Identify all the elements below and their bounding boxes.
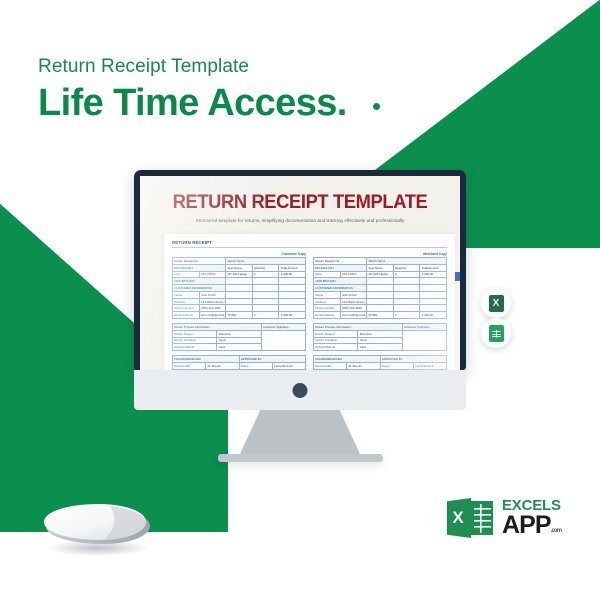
- copy-tag: Customer Copy: [172, 252, 306, 256]
- item-amount-empty: [420, 278, 447, 285]
- items-header: Return Items: [367, 258, 447, 265]
- receipt-copy-customer: Customer Copy Return Receipt No. Return …: [172, 252, 306, 370]
- customer-value: john.smith@email.com: [199, 312, 226, 319]
- process-value: Card: [358, 344, 402, 351]
- customer-value: John Smith: [340, 291, 367, 298]
- spacer-cell: [393, 291, 420, 298]
- issued-value: M. Brooks: [206, 362, 239, 369]
- excel-format-badge[interactable]: X: [481, 288, 511, 318]
- document-subtitle: Structured template for returns, simplif…: [154, 218, 446, 223]
- spacer-cell: [420, 298, 447, 305]
- green-dot-accent: [373, 103, 380, 110]
- monitor-bezel: RETURN RECEIPT TEMPLATE Structured templ…: [134, 170, 466, 370]
- order-number: ORD-88471234: [173, 278, 226, 285]
- item-qty: 1: [252, 271, 279, 278]
- process-header: Return Process Information: [173, 324, 262, 331]
- customer-label: Address: [314, 298, 341, 305]
- monitor-screen: RETURN RECEIPT TEMPLATE Structured templ…: [140, 176, 460, 370]
- receipt-header-table: Return Receipt No. Return Items RR-2024-…: [313, 257, 447, 319]
- col-item-name: Item Name: [226, 264, 253, 271]
- col-item-name: Item Name: [367, 264, 394, 271]
- issued-label: Received By: [314, 362, 347, 369]
- computer-mouse: [38, 498, 156, 556]
- spacer-cell: [226, 291, 253, 298]
- signature-header: Customer Signature: [261, 324, 305, 331]
- total-label: TOTAL: [226, 312, 253, 319]
- item-amount: 1,200.00: [279, 271, 306, 278]
- item-name: VC-120 Laptop: [226, 271, 253, 278]
- issued-approved-table: ISSUED/RECEIVED APPROVED BY Received By …: [313, 355, 447, 370]
- info-header: Return Receipt No.: [314, 258, 367, 265]
- process-signature-table: Return Process Information Customer Sign…: [172, 323, 306, 351]
- issued-value: M. Brooks: [347, 362, 380, 369]
- receipt-header-table: Return Receipt No. Return Items RR-2024-…: [172, 257, 306, 319]
- receipt-number: RR-2024-0117: [173, 264, 226, 271]
- process-signature-table: Return Process Information Customer Sign…: [313, 323, 447, 351]
- process-value: Used: [217, 337, 261, 344]
- customer-value: 124 Maple Street, Boston, MA: [199, 298, 226, 305]
- excel-logo-block: X: [447, 498, 471, 538]
- approved-value: Laura Bennett: [272, 362, 305, 369]
- col-amount: Total Amount: [279, 264, 306, 271]
- issued-label: Received By: [173, 362, 206, 369]
- receipt-number: RR-2024-0117: [314, 264, 367, 271]
- sheet-rule: [172, 247, 447, 248]
- apple-logo-icon: [293, 383, 308, 398]
- excel-icon-letter: X: [493, 298, 500, 309]
- item-qty-empty: [393, 278, 420, 285]
- item-name: VC-120 Laptop: [367, 271, 394, 278]
- spacer-cell: [252, 305, 279, 312]
- approved-header: APPROVED BY: [239, 356, 306, 363]
- excel-logo-icon: X: [447, 495, 495, 541]
- spacer-cell: [420, 305, 447, 312]
- copy-tag: Merchant Copy: [313, 252, 447, 256]
- customer-value: (555) 203-4466: [340, 305, 367, 312]
- col-quantity: Quantity: [393, 264, 420, 271]
- customer-label: Name: [173, 291, 200, 298]
- item-qty: 1: [393, 271, 420, 278]
- excel-logo-sheet: [471, 501, 493, 535]
- spacer-cell: [252, 291, 279, 298]
- google-sheets-format-badge[interactable]: [481, 318, 511, 348]
- issued-approved-table: ISSUED/RECEIVED APPROVED BY Received By …: [172, 355, 306, 370]
- receipt-copy-merchant: Merchant Copy Return Receipt No. Return …: [313, 252, 447, 370]
- excel-logo-letter: X: [452, 508, 463, 528]
- item-name-empty: [367, 278, 394, 285]
- customer-label: Email Address: [314, 312, 341, 319]
- spacer-cell: [420, 285, 447, 292]
- process-label: Return Condition: [314, 337, 358, 344]
- process-label: Return Reason: [173, 330, 217, 337]
- imac-mockup: RETURN RECEIPT TEMPLATE Structured templ…: [134, 170, 466, 462]
- monitor-base: [218, 454, 383, 462]
- monitor-stand: [240, 410, 360, 454]
- spacer-cell: [279, 305, 306, 312]
- issued-header: ISSUED/RECEIVED: [173, 356, 240, 363]
- process-header: Return Process Information: [314, 324, 403, 331]
- process-label: Refund Method: [314, 344, 358, 351]
- customer-value: 124 Maple Street, Boston, MA: [340, 298, 367, 305]
- customer-label: Address: [173, 298, 200, 305]
- customer-section-header: CUSTOMER INFORMATION: [173, 285, 226, 292]
- headline-eyebrow: Return Receipt Template: [38, 56, 347, 78]
- document-title: RETURN RECEIPT TEMPLATE: [159, 191, 441, 214]
- signature-box[interactable]: [402, 330, 446, 350]
- sheet-heading: RETURN RECEIPT: [172, 240, 447, 245]
- total-qty: 1: [393, 312, 420, 319]
- spacer-cell: [279, 298, 306, 305]
- customer-label: Name: [314, 291, 341, 298]
- brand-tld: .com: [551, 528, 561, 534]
- process-value: Used: [358, 337, 402, 344]
- brand-wordmark: EXCELS APP.com: [502, 498, 561, 538]
- brand-line-2-text: APP: [502, 511, 551, 539]
- col-quantity: Quantity: [252, 264, 279, 271]
- info-header: Return Receipt No.: [173, 258, 226, 265]
- approved-label: Name: [380, 362, 413, 369]
- col-amount: Total Amount: [420, 264, 447, 271]
- approved-value: Laura Bennett: [413, 362, 446, 369]
- process-value: Card: [217, 344, 261, 351]
- items-header: Return Items: [226, 258, 306, 265]
- sheets-grid-glyph: [492, 329, 501, 338]
- item-amount: 1,200.00: [420, 271, 447, 278]
- spacer-cell: [367, 305, 394, 312]
- customer-value: John Smith: [199, 291, 226, 298]
- process-label: Refund Method: [173, 344, 217, 351]
- spacer-cell: [252, 285, 279, 292]
- brand-logo: X EXCELS APP.com: [447, 495, 561, 541]
- google-sheets-icon: [489, 325, 504, 342]
- spreadsheet-sheet[interactable]: RETURN RECEIPT Customer Copy Return Rece…: [164, 234, 455, 370]
- total-qty: 1: [252, 312, 279, 319]
- spacer-cell: [279, 291, 306, 298]
- spacer-cell: [279, 285, 306, 292]
- spacer-cell: [226, 298, 253, 305]
- process-label: Return Condition: [173, 337, 217, 344]
- customer-label: Phone Number: [173, 305, 200, 312]
- row-value: 01/17/2024: [340, 271, 367, 278]
- approved-label: Name: [239, 362, 272, 369]
- item-amount-empty: [279, 278, 306, 285]
- spacer-cell: [226, 305, 253, 312]
- spacer-cell: [252, 298, 279, 305]
- order-number: ORD-88471234: [314, 278, 367, 285]
- spacer-cell: [367, 291, 394, 298]
- customer-label: Phone Number: [314, 305, 341, 312]
- spacer-cell: [393, 305, 420, 312]
- headline-block: Return Receipt Template Life Time Access…: [38, 56, 347, 125]
- total-amount: 1,200.00: [279, 312, 306, 319]
- customer-value: john.smith@email.com: [340, 312, 367, 319]
- brand-line-2: APP.com: [502, 513, 561, 538]
- process-value: Defective: [217, 330, 261, 337]
- spacer-cell: [393, 298, 420, 305]
- customer-value: (555) 203-4466: [199, 305, 226, 312]
- spacer-cell: [420, 291, 447, 298]
- signature-box[interactable]: [261, 330, 305, 350]
- row-label: Date: [173, 271, 200, 278]
- issued-header: ISSUED/RECEIVED: [314, 356, 381, 363]
- row-label: Date: [314, 271, 341, 278]
- receipt-copies: Customer Copy Return Receipt No. Return …: [172, 252, 447, 370]
- item-name-empty: [226, 278, 253, 285]
- headline-title: Life Time Access.: [38, 82, 347, 125]
- process-label: Return Reason: [314, 330, 358, 337]
- spacer-cell: [367, 298, 394, 305]
- screen-edge-marker: [455, 272, 460, 281]
- excel-icon: X: [489, 295, 504, 312]
- monitor-chin: [134, 370, 466, 410]
- spacer-cell: [226, 285, 253, 292]
- approved-header: APPROVED BY: [380, 356, 447, 363]
- row-value: 01/17/2024: [199, 271, 226, 278]
- customer-section-header: CUSTOMER INFORMATION: [314, 285, 367, 292]
- signature-header: Customer Signature: [402, 324, 446, 331]
- customer-label: Email Address: [173, 312, 200, 319]
- spacer-cell: [367, 285, 394, 292]
- total-label: TOTAL: [367, 312, 394, 319]
- total-amount: 1,200.00: [420, 312, 447, 319]
- spacer-cell: [393, 285, 420, 292]
- item-qty-empty: [252, 278, 279, 285]
- process-value: Defective: [358, 330, 402, 337]
